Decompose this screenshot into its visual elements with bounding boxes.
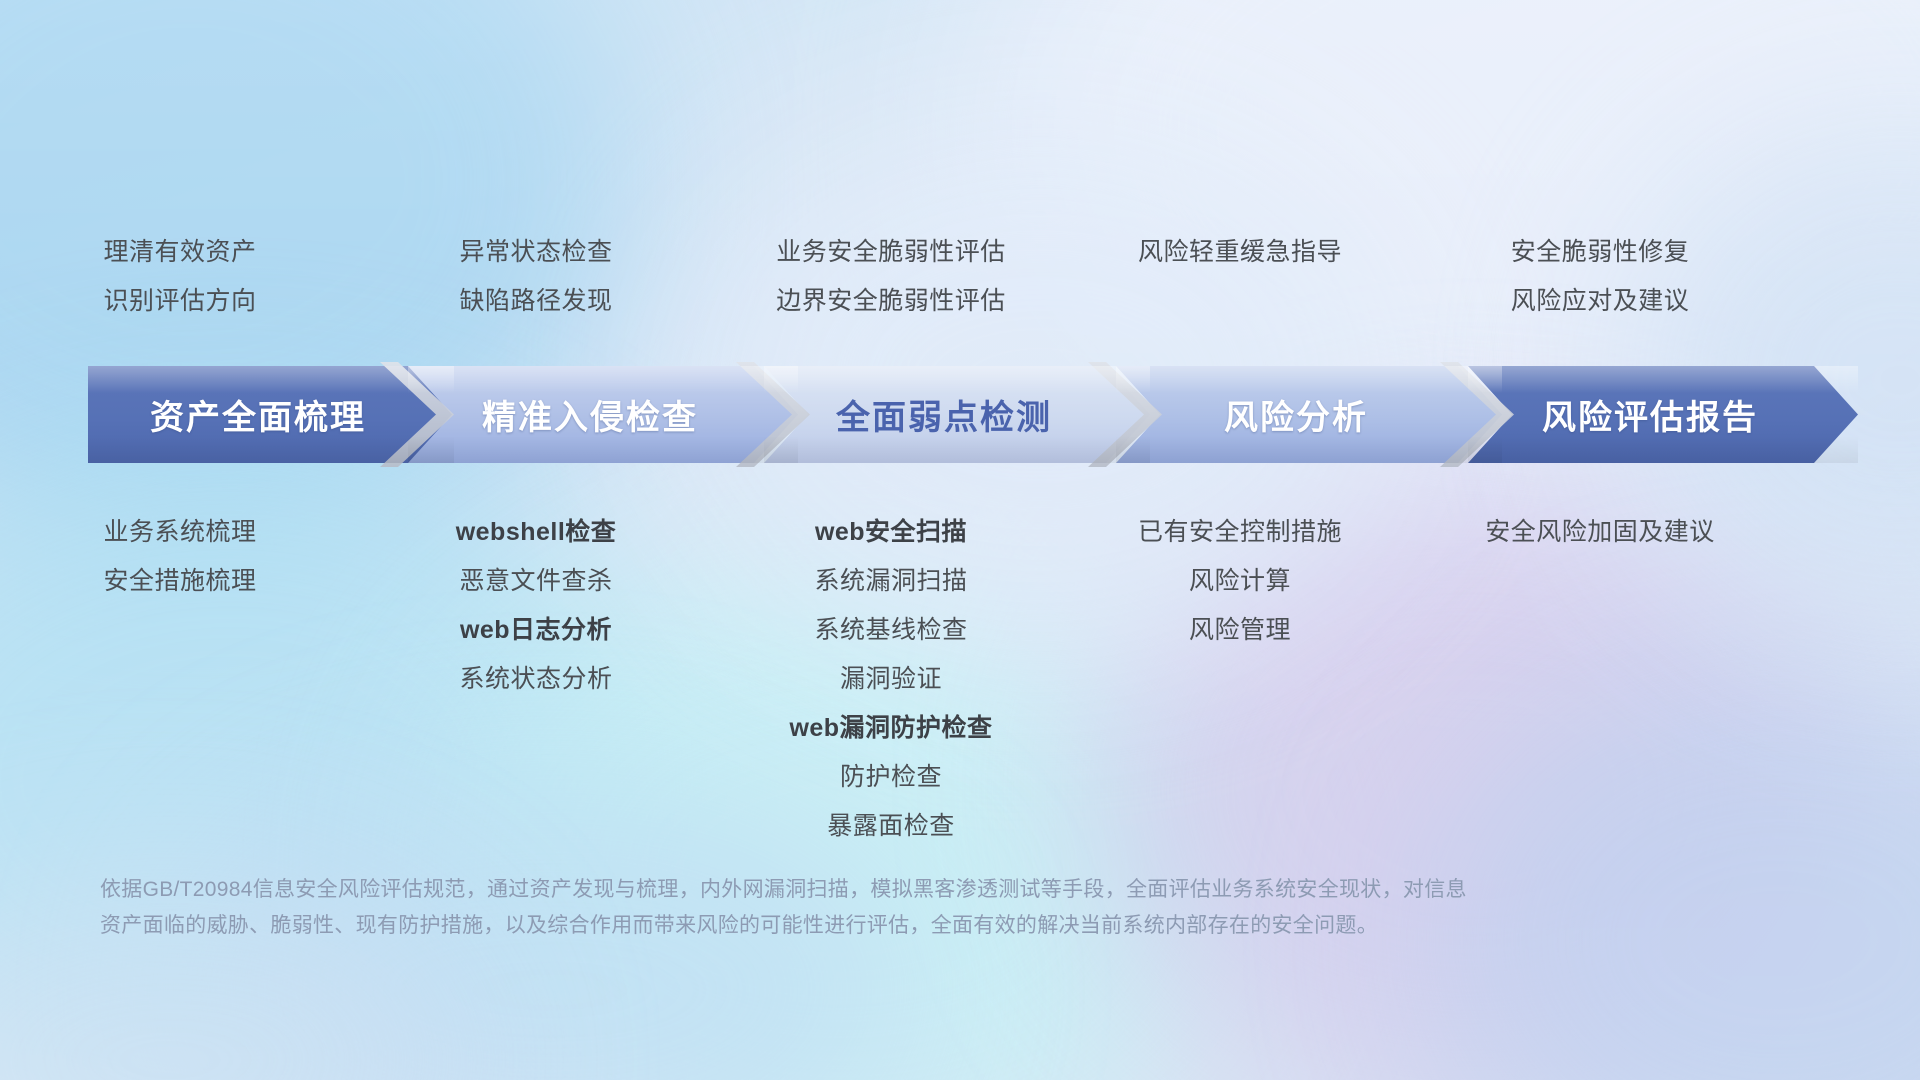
bottom-notes-intrusion-check: webshell检查 恶意文件查杀 web日志分析 系统状态分析 [360,508,712,851]
top-note-line: 理清有效资产 [103,228,256,277]
bottom-note-line: 恶意文件查杀 [459,557,612,606]
stage-chevron-intrusion-check[interactable]: 精准入侵检查 [408,366,798,463]
stage-chevron-risk-analysis[interactable]: 风险分析 [1116,366,1502,463]
bottom-note-line: 系统漏洞扫描 [814,557,967,606]
top-note-line: 缺陷路径发现 [459,277,612,326]
top-note-line: 风险应对及建议 [1511,277,1690,326]
bottom-note-line: 安全措施梳理 [103,557,256,606]
stage-title: 风险评估报告 [1468,390,1858,439]
footer-line: 资产面临的威胁、脆弱性、现有防护措施，以及综合作用而带来风险的可能性进行评估，全… [100,908,1620,944]
top-notes-row: 理清有效资产 识别评估方向 异常状态检查 缺陷路径发现 业务安全脆弱性评估 边界… [0,228,1920,326]
bottom-notes-row: 业务系统梳理 安全措施梳理 webshell检查 恶意文件查杀 web日志分析 … [0,508,1920,851]
top-notes-intrusion-check: 异常状态检查 缺陷路径发现 [360,228,712,326]
stage-chevron-risk-report[interactable]: 风险评估报告 [1468,366,1858,463]
bottom-note-line: 风险计算 [1189,557,1291,606]
stage-title: 资产全面梳理 [88,390,454,439]
bottom-note-line: 暴露面检查 [827,802,955,851]
slide-canvas: 理清有效资产 识别评估方向 异常状态检查 缺陷路径发现 业务安全脆弱性评估 边界… [0,0,1920,1080]
bottom-note-line: 漏洞验证 [840,655,942,704]
bottom-notes-asset-inventory: 业务系统梳理 安全措施梳理 [0,508,360,851]
top-note-line: 风险轻重缓急指导 [1138,228,1342,277]
footer-description: 依据GB/T20984信息安全风险评估规范，通过资产发现与梳理，内外网漏洞扫描，… [100,872,1620,944]
stage-title: 风险分析 [1116,390,1502,439]
bottom-notes-risk-analysis: 已有安全控制措施 风险计算 风险管理 [1070,508,1410,851]
footer-line: 依据GB/T20984信息安全风险评估规范，通过资产发现与梳理，内外网漏洞扫描，… [100,872,1620,908]
top-notes-weakness-detection: 业务安全脆弱性评估 边界安全脆弱性评估 [712,228,1070,326]
bottom-note-line: web日志分析 [460,606,612,655]
bottom-note-line: 已有安全控制措施 [1138,508,1342,557]
top-notes-asset-inventory: 理清有效资产 识别评估方向 [0,228,360,326]
top-note-line: 边界安全脆弱性评估 [776,277,1006,326]
bottom-note-line: 系统基线检查 [814,606,967,655]
process-chevron-band: 资产全面梳理 精准入侵检查 全面弱点检测 风险分析 风险评估报告 [88,366,1858,463]
bottom-note-line: 风险管理 [1189,606,1291,655]
bottom-note-line: web安全扫描 [815,508,967,557]
bottom-note-line: 业务系统梳理 [103,508,256,557]
stage-chevron-asset-inventory[interactable]: 资产全面梳理 [88,366,454,463]
bottom-note-line: web漏洞防护检查 [789,704,992,753]
bottom-notes-weakness-detection: web安全扫描 系统漏洞扫描 系统基线检查 漏洞验证 web漏洞防护检查 防护检… [712,508,1070,851]
bottom-note-line: 安全风险加固及建议 [1485,508,1715,557]
top-note-line: 识别评估方向 [103,277,256,326]
top-note-line: 异常状态检查 [459,228,612,277]
top-notes-risk-report: 安全脆弱性修复 风险应对及建议 [1420,228,1780,326]
bottom-note-line: webshell检查 [456,508,617,557]
bottom-note-line: 防护检查 [840,753,942,802]
stage-chevron-weakness-detection[interactable]: 全面弱点检测 [764,366,1150,463]
top-note-line: 业务安全脆弱性评估 [776,228,1006,277]
stage-title: 全面弱点检测 [764,390,1150,439]
slide-content: 理清有效资产 识别评估方向 异常状态检查 缺陷路径发现 业务安全脆弱性评估 边界… [0,0,1920,1080]
top-notes-risk-analysis: 风险轻重缓急指导 [1070,228,1410,326]
top-note-line: 安全脆弱性修复 [1511,228,1690,277]
bottom-note-line: 系统状态分析 [459,655,612,704]
stage-title: 精准入侵检查 [408,390,798,439]
bottom-notes-risk-report: 安全风险加固及建议 [1420,508,1780,851]
